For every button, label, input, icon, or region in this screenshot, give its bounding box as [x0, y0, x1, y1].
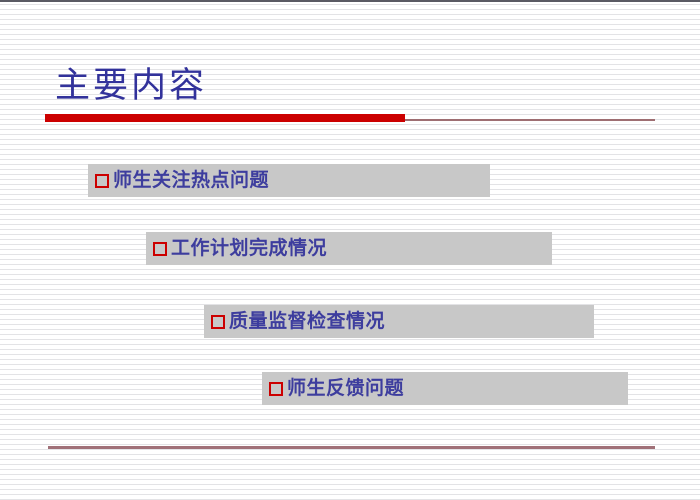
title-underline-accent [45, 114, 405, 122]
list-item-label: 师生反馈问题 [287, 379, 404, 398]
hollow-square-bullet-icon [153, 242, 167, 256]
list-item[interactable]: 师生关注热点问题 [88, 164, 490, 197]
hollow-square-bullet-icon [95, 174, 109, 188]
page-title: 主要内容 [55, 62, 207, 110]
list-item-label: 师生关注热点问题 [113, 171, 269, 190]
slide-top-border [0, 0, 700, 2]
hollow-square-bullet-icon [269, 382, 283, 396]
hollow-square-bullet-icon [211, 315, 225, 329]
list-item[interactable]: 工作计划完成情况 [146, 232, 552, 265]
presentation-slide: 主要内容 师生关注热点问题 工作计划完成情况 质量监督检查情况 师生反馈问题 [0, 0, 700, 500]
list-item-label: 质量监督检查情况 [229, 312, 385, 331]
footer-divider [48, 446, 655, 449]
list-item[interactable]: 质量监督检查情况 [204, 305, 594, 338]
list-item[interactable]: 师生反馈问题 [262, 372, 628, 405]
list-item-label: 工作计划完成情况 [171, 239, 327, 258]
